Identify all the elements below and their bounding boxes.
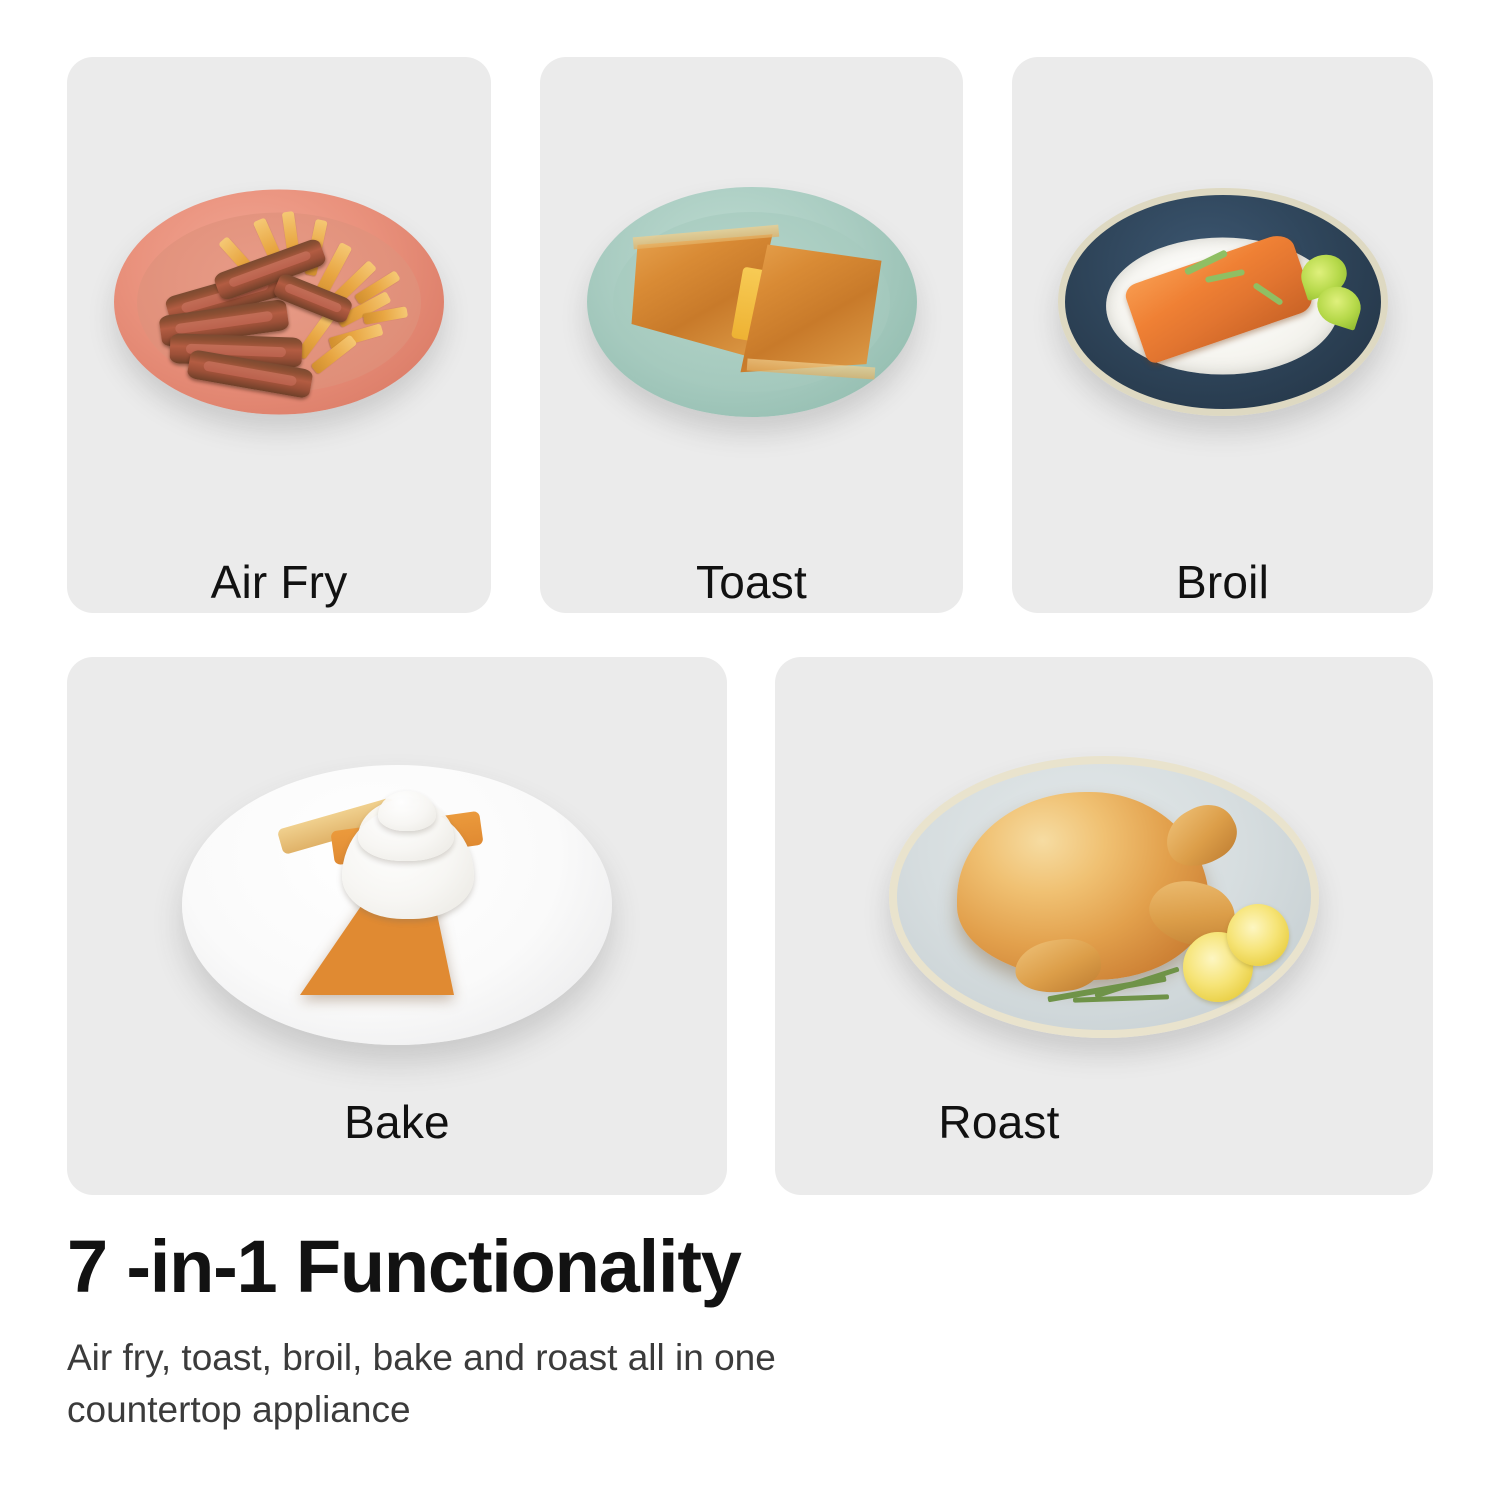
feature-card-toast[interactable]: Toast [540, 57, 963, 613]
bake-image [67, 715, 727, 1095]
roast-image [775, 687, 1433, 1107]
feature-text-block: 7 -in-1 Functionality Air fry, toast, br… [67, 1228, 1167, 1437]
mint-plate [587, 187, 917, 417]
feature-card-roast[interactable]: Roast [775, 657, 1433, 1195]
white-plate [182, 765, 612, 1045]
card-label-bake: Bake [67, 1095, 727, 1149]
broil-image [1012, 117, 1433, 487]
card-label-toast: Toast [540, 555, 963, 609]
page-subtitle: Air fry, toast, broil, bake and roast al… [67, 1332, 947, 1437]
feature-card-grid: Air Fry Toast [0, 0, 1500, 1210]
card-label-air-fry: Air Fry [67, 555, 491, 609]
feature-card-broil[interactable]: Broil [1012, 57, 1433, 613]
feature-card-bake[interactable]: Bake [67, 657, 727, 1195]
coral-plate [114, 190, 444, 415]
feature-card-air-fry[interactable]: Air Fry [67, 57, 491, 613]
card-label-roast: Roast [775, 1095, 1223, 1149]
card-label-broil: Broil [1012, 555, 1433, 609]
toast-image [540, 117, 963, 487]
navy-plate [1058, 188, 1388, 416]
pale-platter [889, 756, 1319, 1038]
air-fry-image [67, 117, 491, 487]
page-title: 7 -in-1 Functionality [67, 1228, 1167, 1306]
